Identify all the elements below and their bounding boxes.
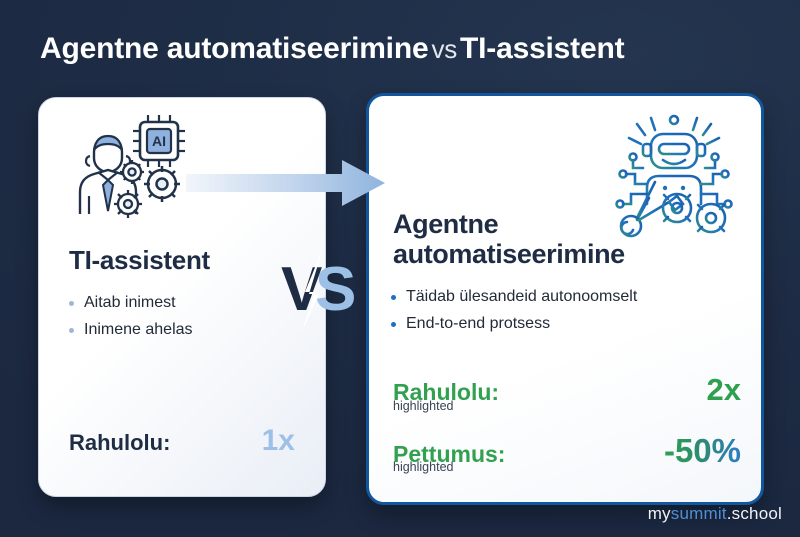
left-card-title: TI-assistent (69, 246, 210, 275)
infographic-slide: Agentne automatiseeriminevsTI-assistent … (0, 0, 800, 537)
ai-assistant-person-chip-gears-icon: AI (66, 112, 194, 224)
list-item: Aitab inimest (69, 294, 193, 312)
metric-sublabel: highlighted (393, 399, 453, 413)
list-item: Täidab ülesandeid autonoomselt (391, 288, 637, 306)
metric-sublabel: highlighted (393, 460, 453, 474)
vs-letter-s: S (315, 255, 356, 324)
page-title: Agentne automatiseeriminevsTI-assistent (40, 32, 760, 66)
title-vs-word: vs (428, 34, 460, 64)
right-card-title: Agentne automatiseerimine (393, 209, 673, 269)
brand-logo: mysummit.school (648, 504, 782, 524)
list-item: End-to-end protsess (391, 315, 637, 333)
metric-label: Rahulolu: (69, 430, 170, 456)
vs-badge: V S (279, 252, 361, 330)
logo-accent: summit (671, 504, 727, 523)
metric-value: 2x (707, 372, 741, 408)
metric-value: 1x (262, 424, 295, 458)
logo-suffix: .school (727, 504, 782, 523)
title-part-2: TI-assistent (460, 32, 624, 65)
right-arrow-icon (186, 158, 386, 208)
logo-prefix: my (648, 504, 671, 523)
left-card-metric: Rahulolu: 1x (69, 424, 295, 458)
svg-text:AI: AI (152, 133, 166, 149)
left-card-bullets: Aitab inimest Inimene ahelas (69, 294, 193, 348)
title-part-1: Agentne automatiseerimine (40, 32, 428, 65)
right-card-bullets: Täidab ülesandeid autonoomselt End-to-en… (391, 288, 637, 342)
metric-value: -50% (664, 432, 741, 470)
card-agentne-automatiseerimine: Agentne automatiseerimine Täidab ülesand… (366, 93, 764, 505)
list-item: Inimene ahelas (69, 321, 193, 339)
